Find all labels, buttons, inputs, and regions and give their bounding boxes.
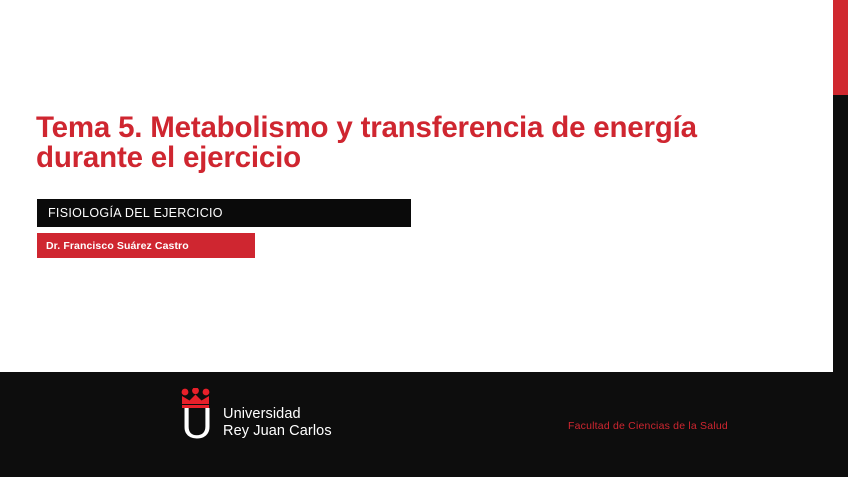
edge-bar-black-segment [833, 95, 848, 477]
right-edge-accent-bar [833, 0, 848, 477]
edge-bar-red-segment [833, 0, 848, 95]
footer-band: U Universidad Rey Juan Carlos Facultad d… [0, 372, 833, 477]
slide-title: Tema 5. Metabolismo y transferencia de e… [36, 113, 726, 173]
presentation-slide: Tema 5. Metabolismo y transferencia de e… [0, 0, 848, 477]
logo-mark: U [178, 388, 216, 444]
faculty-label: Facultad de Ciencias de la Salud [568, 420, 728, 432]
university-logo: U Universidad Rey Juan Carlos [178, 388, 332, 444]
university-name: Universidad Rey Juan Carlos [223, 406, 332, 444]
subject-label: FISIOLOGÍA DEL EJERCICIO [37, 206, 223, 220]
author-bar: Dr. Francisco Suárez Castro [37, 233, 255, 258]
subject-bar: FISIOLOGÍA DEL EJERCICIO [37, 199, 411, 227]
author-label: Dr. Francisco Suárez Castro [37, 240, 189, 252]
logo-letter-u: U [178, 405, 216, 444]
